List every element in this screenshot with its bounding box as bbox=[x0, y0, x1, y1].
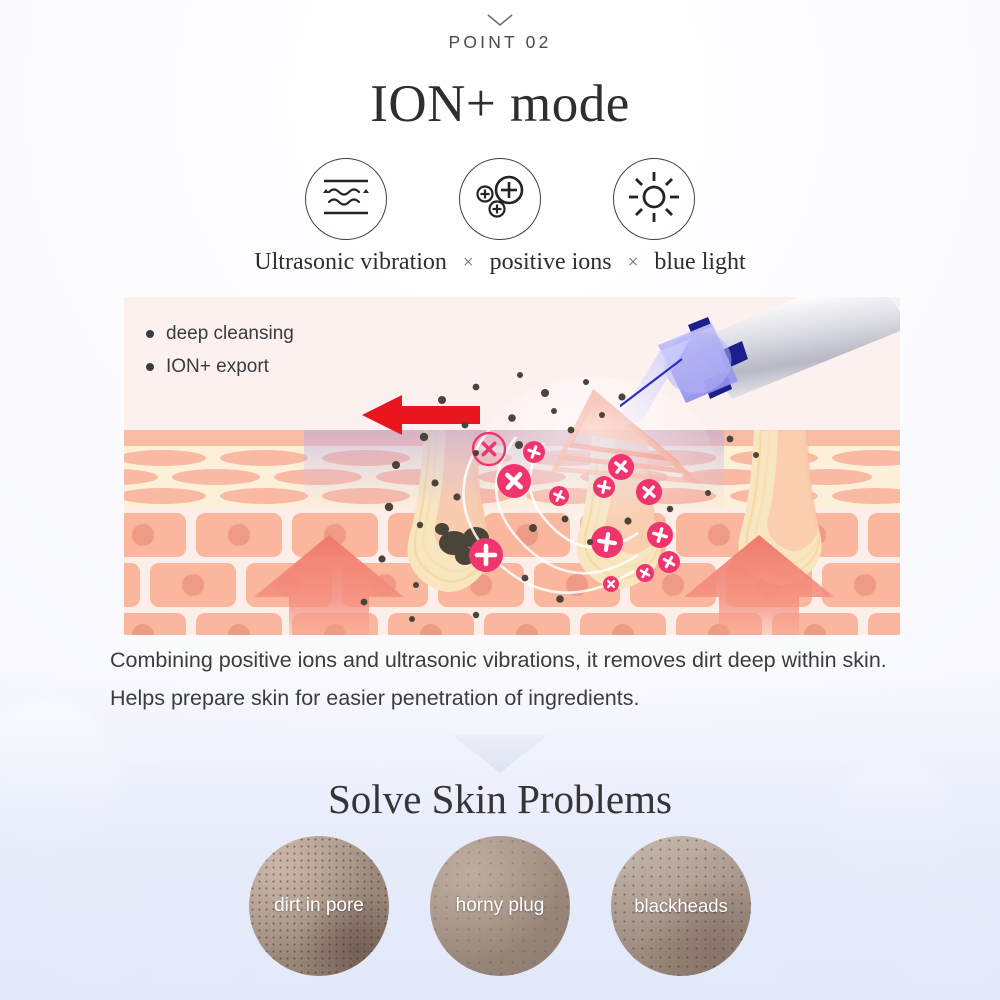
point-label: POINT 02 bbox=[0, 32, 1000, 53]
bullet-label: deep cleansing bbox=[166, 317, 294, 350]
problem-caption: dirt in pore bbox=[274, 895, 364, 917]
bullet-dot-icon bbox=[146, 363, 154, 371]
bullet-dot-icon bbox=[146, 330, 154, 338]
problem-circle-dirt-in-pore[interactable]: dirt in pore bbox=[249, 836, 389, 976]
chevron-down-icon bbox=[487, 14, 513, 27]
separator-multiply: × bbox=[628, 252, 639, 274]
bullet-list: deep cleansing ION+ export bbox=[146, 317, 294, 383]
problem-caption: horny plug bbox=[456, 895, 545, 917]
list-item: ION+ export bbox=[146, 350, 294, 383]
triangle-down-icon bbox=[0, 735, 1000, 775]
feature-icon-ultrasonic bbox=[305, 158, 387, 240]
separator-multiply: × bbox=[463, 252, 474, 274]
description-paragraph: Combining positive ions and ultrasonic v… bbox=[110, 641, 900, 717]
problem-circle-row: dirt in pore horny plug blackheads bbox=[0, 836, 1000, 976]
feature-labels: Ultrasonic vibration × positive ions × b… bbox=[0, 249, 1000, 276]
point-header: POINT 02 bbox=[0, 14, 1000, 53]
feature-label-ultrasonic: Ultrasonic vibration bbox=[254, 249, 447, 275]
feature-label-positive-ions: positive ions bbox=[490, 249, 612, 275]
skin-cross-section-illustration: deep cleansing ION+ export bbox=[124, 297, 900, 635]
solve-heading: Solve Skin Problems bbox=[0, 775, 1000, 823]
bullet-label: ION+ export bbox=[166, 350, 269, 383]
problem-caption: blackheads bbox=[634, 895, 728, 917]
feature-icon-positive-ions bbox=[459, 158, 541, 240]
plus-circle-icon bbox=[469, 433, 680, 592]
feature-icon-blue-light bbox=[613, 158, 695, 240]
feature-label-blue-light: blue light bbox=[654, 249, 745, 275]
problem-circle-blackheads[interactable]: blackheads bbox=[611, 836, 751, 976]
page-title: ION+ mode bbox=[0, 74, 1000, 134]
problem-circle-horny-plug[interactable]: horny plug bbox=[430, 836, 570, 976]
blue-light-sun-icon bbox=[627, 170, 681, 229]
positive-ion-icon bbox=[471, 171, 529, 228]
list-item: deep cleansing bbox=[146, 317, 294, 350]
ultrasonic-wave-icon bbox=[318, 174, 374, 225]
feature-icon-row bbox=[0, 158, 1000, 240]
